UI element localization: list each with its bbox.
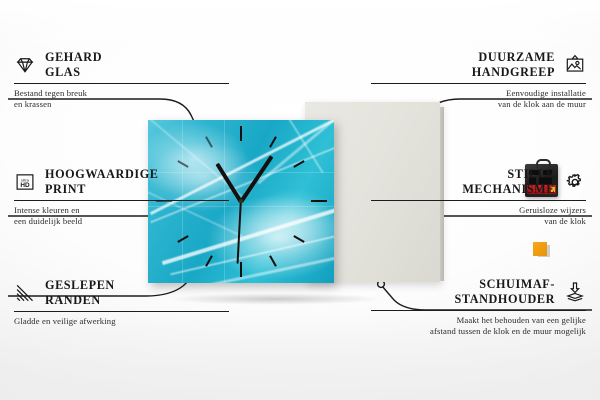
feature-stille-mechanisme[interactable]: STILLEMECHANISME Geruisloze wijzersvan d…	[371, 167, 586, 228]
divider	[371, 200, 586, 201]
feature-title: GESLEPENRANDEN	[45, 278, 115, 308]
feature-subtitle: Geruisloze wijzersvan de klok	[371, 205, 586, 228]
feature-subtitle: Intense kleuren eneen duidelijk beeld	[14, 205, 229, 228]
hanging-picture-icon	[564, 54, 586, 76]
feature-title: HOOGWAARDIGEPRINT	[45, 167, 159, 197]
hour-tick	[240, 262, 242, 277]
feature-title: GEHARDGLAS	[45, 50, 102, 80]
feature-title: STILLEMECHANISME	[371, 167, 555, 197]
divider	[371, 310, 586, 311]
diamond-icon	[14, 54, 36, 76]
feature-subtitle: Gladde en veilige afwerking	[14, 316, 229, 328]
ultra-hd-icon: ultra HD	[14, 171, 36, 193]
hour-tick	[311, 200, 327, 202]
feature-title: DUURZAMEHANDGREEP	[371, 50, 555, 80]
feature-subtitle: Bestand tegen breuken krassen	[14, 88, 229, 111]
feature-subtitle: Maakt het behouden van een gelijkeafstan…	[371, 315, 586, 338]
divider	[14, 83, 229, 84]
svg-text:HD: HD	[20, 182, 30, 189]
spacer-press-icon	[564, 281, 586, 303]
feature-schuimaf-standhouder[interactable]: SCHUIMAF-STANDHOUDER Maakt het behouden …	[371, 277, 586, 338]
divider	[371, 83, 586, 84]
feature-geslepen-randen[interactable]: GESLEPENRANDEN Gladde en veilige afwerki…	[14, 278, 229, 327]
feature-hoogwaardige-print[interactable]: ultra HD HOOGWAARDIGEPRINT Intense kleur…	[14, 167, 229, 228]
infographic-canvas: GEHARDGLAS Bestand tegen breuken krassen…	[0, 0, 600, 400]
feature-subtitle: Eenvoudige installatievan de klok aan de…	[371, 88, 586, 111]
gear-icon	[564, 171, 586, 193]
hour-tick	[240, 126, 242, 141]
feature-duurzame-handgreep[interactable]: DUURZAMEHANDGREEP Eenvoudige installatie…	[371, 50, 586, 111]
divider	[14, 200, 229, 201]
clock-pivot	[239, 199, 243, 203]
foam-spacer-pad	[533, 242, 547, 256]
divider	[14, 311, 229, 312]
feature-title: SCHUIMAF-STANDHOUDER	[371, 277, 555, 307]
beveled-edge-icon	[14, 282, 36, 304]
feature-gehard-glas[interactable]: GEHARDGLAS Bestand tegen breuken krassen	[14, 50, 229, 111]
